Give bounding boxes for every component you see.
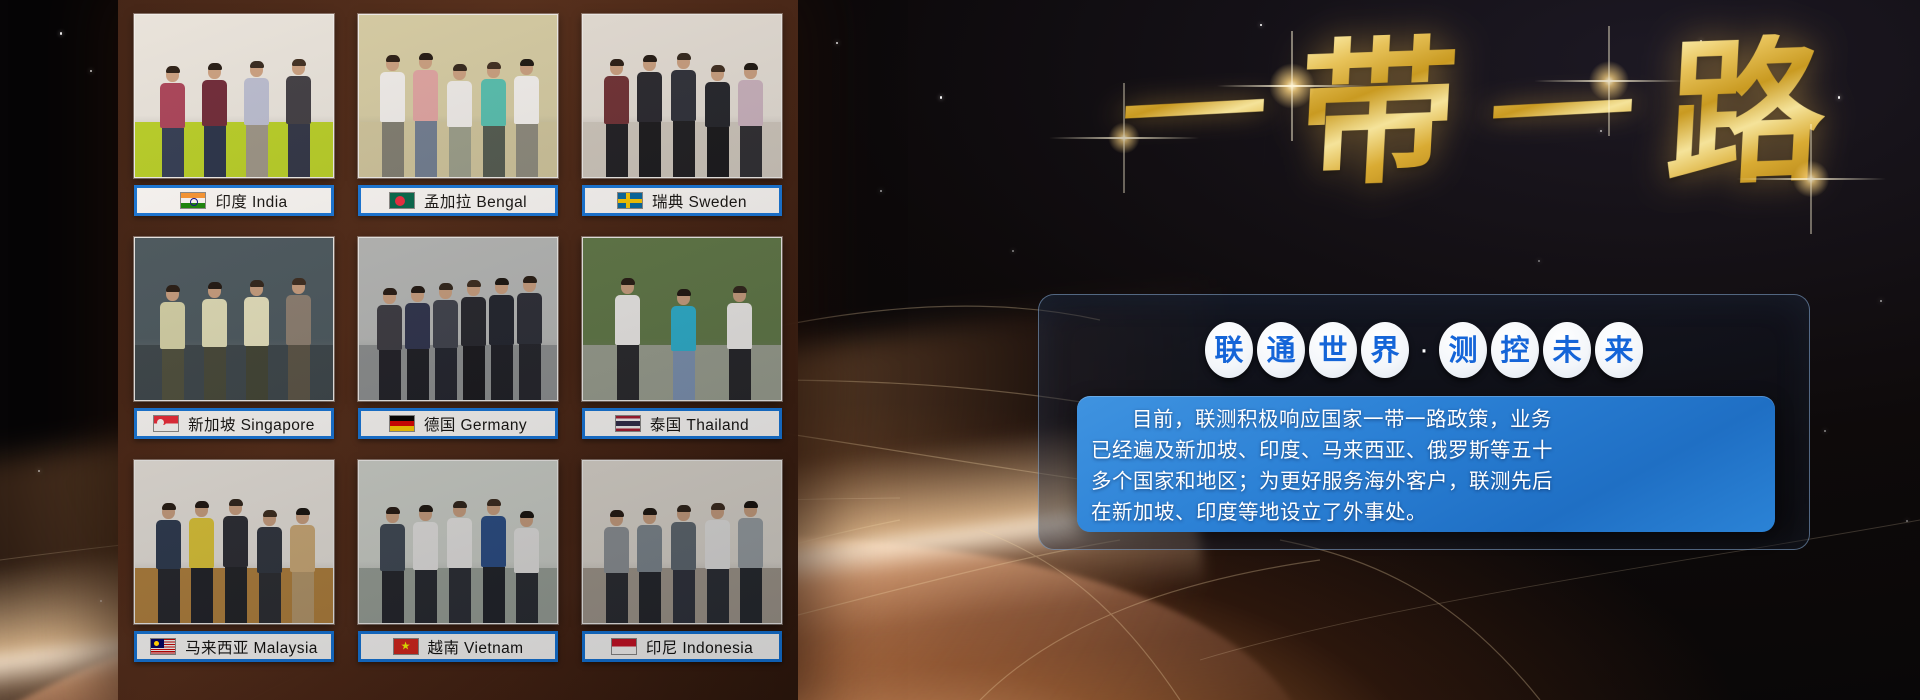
flag-india-icon <box>180 192 206 209</box>
about-paragraph-text: 目前，联测积极响应国家一带一路政策，业务 已经遍及新加坡、印度、马来西亚、俄罗斯… <box>1091 404 1761 532</box>
flag-thailand-icon <box>615 415 641 432</box>
flag-vietnam-icon <box>393 638 419 655</box>
caption-label: 越南 Vietnam <box>428 636 524 658</box>
photo-person <box>380 56 405 177</box>
paragraph-line: 目前，联测积极响应国家一带一路政策，业务 <box>1091 404 1761 435</box>
photo-people-group <box>359 238 557 400</box>
photo-singapore[interactable] <box>134 237 334 401</box>
caption-thailand[interactable]: 泰国 Thailand <box>582 408 782 439</box>
slogan-char-badge: 通 <box>1257 322 1305 378</box>
photo-person <box>244 62 269 177</box>
caption-label: 新加坡 Singapore <box>188 413 315 435</box>
photo-person <box>637 509 662 623</box>
gallery-cell-thailand[interactable]: 泰国 Thailand <box>582 237 782 451</box>
photo-person <box>377 289 402 400</box>
photo-india[interactable] <box>134 14 334 178</box>
calligraphy-char-3: 一 <box>1486 55 1638 173</box>
paragraph-line: 多个国家和地区；为更好服务海外客户，联测先后 <box>1091 466 1761 497</box>
photo-thailand[interactable] <box>582 237 782 401</box>
gallery-cell-singapore[interactable]: 新加坡 Singapore <box>134 237 334 451</box>
photo-people-group <box>583 15 781 177</box>
banner-root: 印度 India孟加拉 Bengal瑞典 Sweden新加坡 Singapore… <box>0 0 1920 700</box>
calligraphy-char-4: 路 <box>1663 32 1830 195</box>
photo-person <box>705 66 730 177</box>
photo-person <box>286 60 311 177</box>
slogan-separator-dot: · <box>1413 335 1435 365</box>
photo-sweden[interactable] <box>582 14 782 178</box>
caption-india[interactable]: 印度 India <box>134 185 334 216</box>
photo-person <box>257 511 282 623</box>
caption-label: 德国 Germany <box>424 413 527 435</box>
photo-person <box>413 54 438 177</box>
slogan-char-badge: 控 <box>1491 322 1539 378</box>
calligraphy-char-2: 带 <box>1295 32 1462 195</box>
photo-person <box>447 65 472 177</box>
slogan-row: 联通世界·测控未来 <box>1038 312 1810 388</box>
flag-singapore-icon <box>153 415 179 432</box>
photo-person <box>189 502 214 623</box>
caption-indonesia[interactable]: 印尼 Indonesia <box>582 631 782 662</box>
photo-person <box>461 281 486 400</box>
flag-indonesia-icon <box>611 638 637 655</box>
photo-people-group <box>583 461 781 623</box>
slogan-char-badge: 世 <box>1309 322 1357 378</box>
photo-person <box>413 506 438 623</box>
photo-people-group <box>135 238 333 400</box>
photo-person <box>517 277 542 400</box>
paragraph-line: 已经遍及新加坡、印度、马来西亚、俄罗斯等五十 <box>1091 435 1761 466</box>
photo-person <box>671 54 696 177</box>
flag-germany-icon <box>389 415 415 432</box>
slogan-char-badge: 界 <box>1361 322 1409 378</box>
gallery-cell-indonesia[interactable]: 印尼 Indonesia <box>582 460 782 674</box>
photo-person <box>380 508 405 623</box>
flag-sweden-icon <box>617 192 643 209</box>
photo-person <box>671 506 696 623</box>
caption-label: 瑞典 Sweden <box>652 190 747 212</box>
photo-germany[interactable] <box>358 237 558 401</box>
caption-sweden[interactable]: 瑞典 Sweden <box>582 185 782 216</box>
slogan-char-badge: 测 <box>1439 322 1487 378</box>
flag-bangladesh-icon <box>389 192 415 209</box>
photo-person <box>489 279 514 400</box>
photo-indonesia[interactable] <box>582 460 782 624</box>
photo-people-group <box>359 15 557 177</box>
caption-bengal[interactable]: 孟加拉 Bengal <box>358 185 558 216</box>
photo-person <box>481 63 506 177</box>
photo-person <box>244 281 269 400</box>
caption-label: 印度 India <box>215 190 287 212</box>
photo-person <box>286 279 311 400</box>
photo-person <box>202 64 227 177</box>
photo-person <box>604 60 629 177</box>
photo-person <box>514 60 539 177</box>
gallery-cell-bengal[interactable]: 孟加拉 Bengal <box>358 14 558 228</box>
slogan-char-badge: 未 <box>1543 322 1591 378</box>
caption-label: 孟加拉 Bengal <box>424 190 527 212</box>
paragraph-line: 联测，为国产仪表正名，为中国制造加分！ <box>1091 528 1761 532</box>
photo-people-group <box>135 461 333 623</box>
gallery-grid: 印度 India孟加拉 Bengal瑞典 Sweden新加坡 Singapore… <box>134 14 782 686</box>
gallery-cell-malaysia[interactable]: 马来西亚 Malaysia <box>134 460 334 674</box>
caption-malaysia[interactable]: 马来西亚 Malaysia <box>134 631 334 662</box>
photo-person <box>447 502 472 623</box>
photo-board: 印度 India孟加拉 Bengal瑞典 Sweden新加坡 Singapore… <box>118 0 798 700</box>
gallery-cell-india[interactable]: 印度 India <box>134 14 334 228</box>
photo-person <box>160 286 185 400</box>
photo-person <box>156 504 181 623</box>
photo-people-group <box>583 238 781 400</box>
photo-person <box>481 500 506 623</box>
photo-malaysia[interactable] <box>134 460 334 624</box>
caption-vietnam[interactable]: 越南 Vietnam <box>358 631 558 662</box>
headline-calligraphy: 一 带 一 路 <box>1030 8 1910 220</box>
photo-vietnam[interactable] <box>358 460 558 624</box>
flag-malaysia-icon <box>150 638 176 655</box>
slogan-char-badge: 来 <box>1595 322 1643 378</box>
calligraphy-char-1: 一 <box>1118 55 1270 173</box>
about-panel: 目前，联测积极响应国家一带一路政策，业务 已经遍及新加坡、印度、马来西亚、俄罗斯… <box>1077 396 1775 532</box>
photo-person <box>160 67 185 177</box>
photo-person <box>727 287 752 400</box>
photo-person <box>223 500 248 623</box>
caption-label: 马来西亚 Malaysia <box>185 636 318 658</box>
photo-person <box>202 283 227 400</box>
caption-label: 泰国 Thailand <box>650 413 749 435</box>
photo-person <box>615 279 640 400</box>
photo-person <box>433 284 458 400</box>
gallery-cell-vietnam[interactable]: 越南 Vietnam <box>358 460 558 674</box>
photo-person <box>738 64 763 177</box>
photo-person <box>738 502 763 623</box>
photo-person <box>290 509 315 623</box>
photo-bengal[interactable] <box>358 14 558 178</box>
caption-germany[interactable]: 德国 Germany <box>358 408 558 439</box>
paragraph-line: 在新加坡、印度等地设立了外事处。 <box>1091 497 1761 528</box>
photo-person <box>514 512 539 623</box>
photo-person <box>604 511 629 623</box>
photo-person <box>705 504 730 623</box>
gallery-cell-germany[interactable]: 德国 Germany <box>358 237 558 451</box>
photo-people-group <box>359 461 557 623</box>
photo-people-group <box>135 15 333 177</box>
photo-person <box>671 290 696 400</box>
caption-singapore[interactable]: 新加坡 Singapore <box>134 408 334 439</box>
photo-person <box>405 287 430 400</box>
gallery-cell-sweden[interactable]: 瑞典 Sweden <box>582 14 782 228</box>
slogan-char-badge: 联 <box>1205 322 1253 378</box>
photo-person <box>637 56 662 177</box>
caption-label: 印尼 Indonesia <box>646 636 753 658</box>
